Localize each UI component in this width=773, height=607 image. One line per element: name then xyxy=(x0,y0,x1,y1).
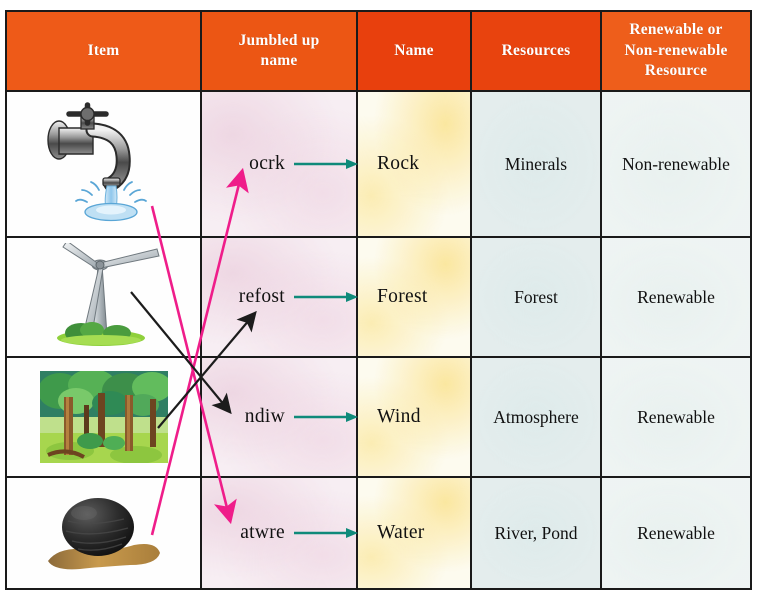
renewability-value: Renewable xyxy=(637,407,715,427)
solve-arrow-icon xyxy=(294,527,358,539)
header-label-item: Item xyxy=(88,42,120,59)
table-header: Item Jumbled up name Name Resources Rene… xyxy=(6,11,751,91)
resources-value: River, Pond xyxy=(495,523,578,543)
item-cell-forest[interactable] xyxy=(6,357,201,477)
name-word: Water xyxy=(377,522,425,544)
forest-icon xyxy=(7,358,200,476)
header-row: Item Jumbled up name Name Resources Rene… xyxy=(6,11,751,91)
resources-cell-atmosphere[interactable]: Atmosphere xyxy=(471,357,601,477)
jumbled-cell-atwre[interactable]: atwre xyxy=(201,477,357,589)
header-label-renew-line3: Resource xyxy=(645,62,707,79)
name-cell-wind[interactable]: Wind xyxy=(357,357,471,477)
item-cell-rock[interactable] xyxy=(6,477,201,589)
jumbled-word: ocrk xyxy=(249,153,285,175)
column-header-jumbled-name: Jumbled up name xyxy=(201,11,357,91)
renewability-value: Renewable xyxy=(637,287,715,307)
resources-table: Item Jumbled up name Name Resources Rene… xyxy=(5,10,752,590)
solve-arrow-icon xyxy=(294,158,358,170)
header-label-jumbled-line1: Jumbled up xyxy=(239,32,320,49)
header-label-renew-line1: Renewable or xyxy=(629,21,722,38)
name-word: Rock xyxy=(377,153,419,175)
resources-cell-forest[interactable]: Forest xyxy=(471,237,601,357)
solve-arrow-icon xyxy=(294,411,358,423)
table-body: ocrk Rock Minerals Non-re xyxy=(6,91,751,589)
renewability-cell-non-renewable[interactable]: Non-renewable xyxy=(601,91,751,237)
renewability-cell-renewable[interactable]: Renewable xyxy=(601,477,751,589)
renewability-value: Non-renewable xyxy=(622,154,730,174)
resources-value: Forest xyxy=(514,287,558,307)
name-cell-forest[interactable]: Forest xyxy=(357,237,471,357)
resources-value: Minerals xyxy=(505,154,567,174)
table-row: atwre Water River, Pond R xyxy=(6,477,751,589)
renewability-cell-renewable[interactable]: Renewable xyxy=(601,357,751,477)
item-cell-water-tap[interactable] xyxy=(6,91,201,237)
name-cell-rock[interactable]: Rock xyxy=(357,91,471,237)
item-cell-wind-turbine[interactable] xyxy=(6,237,201,357)
jumbled-word: refost xyxy=(239,286,285,308)
header-label-resources: Resources xyxy=(502,42,571,59)
renewability-cell-renewable[interactable]: Renewable xyxy=(601,237,751,357)
name-cell-water[interactable]: Water xyxy=(357,477,471,589)
name-word: Forest xyxy=(377,286,428,308)
jumbled-word: atwre xyxy=(240,522,285,544)
resources-value: Atmosphere xyxy=(493,407,579,427)
column-header-item: Item xyxy=(6,11,201,91)
table-row: ndiw Wind Atmosphere Rene xyxy=(6,357,751,477)
header-label-name: Name xyxy=(394,42,434,59)
name-word: Wind xyxy=(377,406,421,428)
water-tap-icon xyxy=(7,92,200,236)
table-row: refost Forest Forest Rene xyxy=(6,237,751,357)
header-label-jumbled-line2: name xyxy=(261,52,298,69)
table-row: ocrk Rock Minerals Non-re xyxy=(6,91,751,237)
jumbled-cell-ndiw[interactable]: ndiw xyxy=(201,357,357,477)
header-label-renew-line2: Non-renewable xyxy=(624,42,727,59)
jumbled-cell-refost[interactable]: refost xyxy=(201,237,357,357)
resources-cell-minerals[interactable]: Minerals xyxy=(471,91,601,237)
jumbled-cell-ocrk[interactable]: ocrk xyxy=(201,91,357,237)
renewability-value: Renewable xyxy=(637,523,715,543)
column-header-resources: Resources xyxy=(471,11,601,91)
solve-arrow-icon xyxy=(294,291,358,303)
column-header-renewability: Renewable or Non-renewable Resource xyxy=(601,11,751,91)
resources-cell-river-pond[interactable]: River, Pond xyxy=(471,477,601,589)
column-header-name: Name xyxy=(357,11,471,91)
rock-icon xyxy=(7,478,200,588)
wind-turbine-icon xyxy=(7,238,200,356)
jumbled-word: ndiw xyxy=(245,406,285,428)
worksheet-page: Item Jumbled up name Name Resources Rene… xyxy=(0,0,773,607)
